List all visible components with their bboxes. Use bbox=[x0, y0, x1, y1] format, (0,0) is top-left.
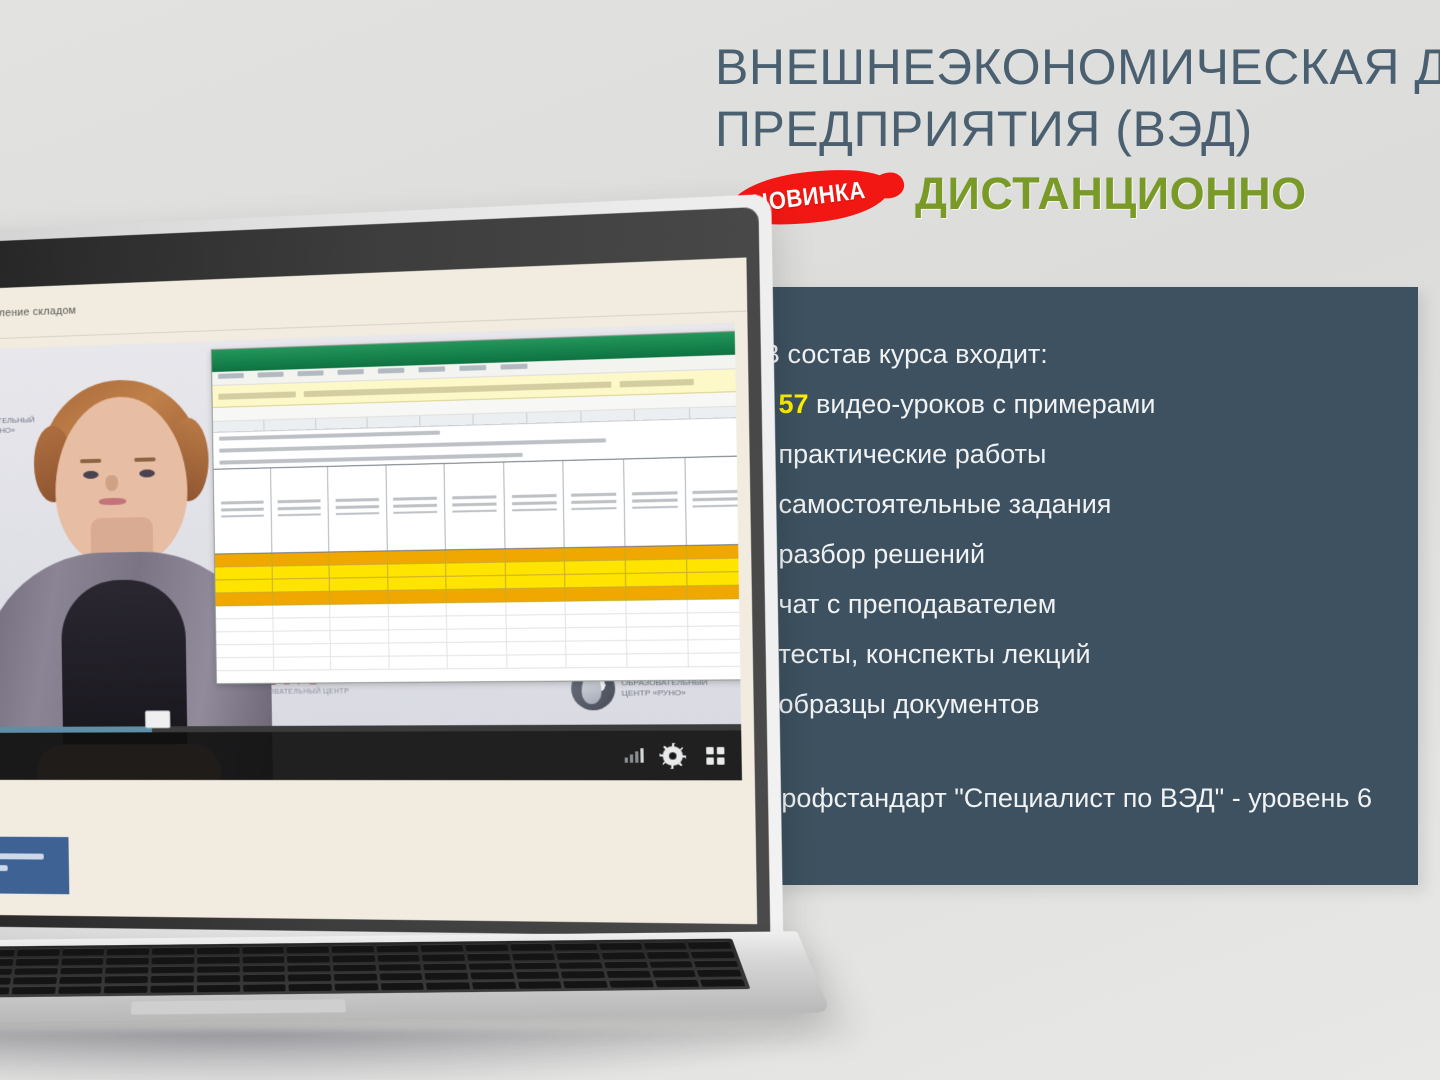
grid-icon bbox=[706, 747, 724, 765]
controls-spacer bbox=[0, 756, 625, 757]
practical-tasks-button[interactable] bbox=[0, 836, 69, 894]
volume-bars-icon[interactable] bbox=[625, 748, 644, 762]
promo-headline: ВНЕШНЕЭКОНОМИЧЕСКАЯ Д ПРЕДПРИЯТИЯ (ВЭД) … bbox=[715, 36, 1440, 238]
presenter-brow bbox=[134, 457, 155, 462]
info-bullet: - тесты, конспекты лекций bbox=[762, 629, 1418, 679]
video-lesson-count: 57 bbox=[779, 389, 809, 419]
presenter-eye bbox=[139, 469, 155, 477]
settings-button[interactable] bbox=[656, 740, 688, 771]
laptop-shadow bbox=[0, 1030, 840, 1080]
laptop-keyboard[interactable] bbox=[0, 939, 750, 1001]
practical-tasks-label bbox=[0, 853, 44, 877]
video-scrubber-handle[interactable] bbox=[145, 710, 171, 728]
info-footnote: Профстандарт "Специалист по ВЭД" - урове… bbox=[762, 775, 1382, 821]
breadcrumb: (ВЭД). 1 Тема 4 Бухгалтерский учет Управ… bbox=[0, 304, 76, 327]
presenter-mouth bbox=[99, 498, 126, 506]
laptop-lid: (ВЭД). 1 Тема 4 Бухгалтерский учет Управ… bbox=[0, 194, 784, 951]
promo-title-line-2: ПРЕДПРИЯТИЯ (ВЭД) bbox=[715, 98, 1440, 160]
info-bullet: - разбор решений bbox=[762, 529, 1418, 579]
info-bullet: - чат с преподавателем bbox=[762, 579, 1418, 629]
video-player[interactable]: RUNO ОБРАЗОВАТЕЛЬНЫЙ ЦЕНТР ОБРАЗОВАТЕЛЬН… bbox=[0, 322, 742, 780]
info-bullet: - практические работы bbox=[762, 429, 1418, 479]
spreadsheet-window[interactable] bbox=[211, 330, 742, 684]
info-bullet: - самостоятельные задания bbox=[762, 479, 1418, 529]
video-controls-bar[interactable] bbox=[0, 730, 742, 780]
course-info-panel: В состав курса входит: - 57 видео-уроков… bbox=[716, 287, 1418, 885]
video-progress-played bbox=[0, 726, 152, 733]
laptop-base bbox=[0, 931, 831, 1025]
info-bullet: - образцы документов bbox=[762, 679, 1418, 729]
bullet-video-text: видео-уроков с примерами bbox=[809, 389, 1156, 419]
info-bullet-video: - 57 видео-уроков с примерами bbox=[762, 379, 1418, 429]
laptop-bezel: (ВЭД). 1 Тема 4 Бухгалтерский учет Управ… bbox=[0, 207, 770, 937]
laptop-screen: (ВЭД). 1 Тема 4 Бухгалтерский учет Управ… bbox=[0, 257, 757, 924]
fullscreen-button[interactable] bbox=[699, 740, 732, 771]
laptop-mockup: (ВЭД). 1 Тема 4 Бухгалтерский учет Управ… bbox=[0, 218, 760, 1008]
laptop-trackpad[interactable] bbox=[131, 999, 346, 1014]
page-action-buttons bbox=[0, 836, 69, 895]
presenter-eye bbox=[83, 471, 99, 479]
promo-badge-row: НОВИНКА ДИСТАНЦИОННО bbox=[715, 166, 1440, 238]
distance-mode-label: ДИСТАНЦИОННО bbox=[915, 168, 1307, 220]
center-logo-line-2: ЦЕНТР «РУНО» bbox=[621, 688, 708, 699]
presenter-brow bbox=[80, 459, 101, 464]
spreadsheet-table-header bbox=[214, 455, 742, 554]
info-heading: В состав курса входит: bbox=[762, 329, 1418, 379]
gear-icon bbox=[662, 746, 682, 766]
info-spacer bbox=[762, 729, 1418, 775]
promo-title-line-1: ВНЕШНЕЭКОНОМИЧЕСКАЯ Д bbox=[715, 36, 1440, 98]
